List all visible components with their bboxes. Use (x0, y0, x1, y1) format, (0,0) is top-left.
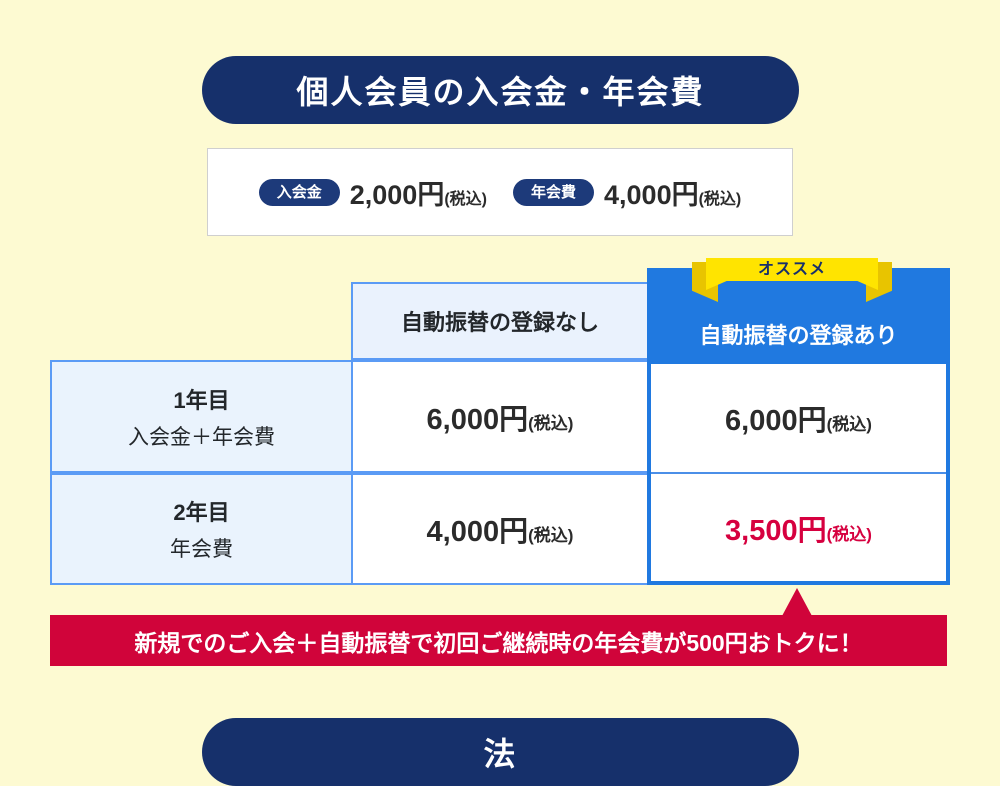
row-label-year1-sub: 入会金＋年会費 (128, 421, 275, 451)
fee-amount-annual-value: 4,000円 (604, 180, 699, 210)
fee-badge-admission: 入会金 (259, 179, 340, 206)
ribbon-label: オススメ (758, 258, 826, 282)
price-no-autopay-year2: 4,000円(税込) (427, 508, 574, 550)
fee-badge-annual: 年会費 (513, 179, 594, 206)
price-no-autopay-year1-tax: (税込) (528, 414, 573, 433)
callout-arrow-icon (782, 588, 812, 616)
recommended-ribbon: オススメ (692, 258, 892, 304)
price-no-autopay-year2-tax: (税込) (528, 526, 573, 545)
table-row-label-year2: 2年目 年会費 (50, 473, 353, 585)
price-with-autopay-year2-tax: (税込) (827, 525, 872, 544)
table-grid: 自動振替の登録なし 1年目 入会金＋年会費 2年目 年会費 6,000円(税込)… (50, 268, 950, 585)
row-label-year1-main: 1年目 (173, 383, 229, 415)
table-header-no-autopay-label: 自動振替の登録なし (401, 305, 599, 337)
table-column-with-autopay: 自動振替の登録あり 6,000円(税込) 3,500円(税込) (647, 268, 950, 585)
ribbon-band: オススメ (706, 258, 878, 290)
fee-item-admission: 入会金 2,000円(税込) (259, 173, 487, 212)
price-with-autopay-year2: 3,500円(税込) (725, 507, 872, 549)
fee-amount-admission-tax: (税込) (444, 191, 487, 208)
fee-amount-admission-value: 2,000円 (350, 180, 445, 210)
fee-amount-admission: 2,000円(税込) (350, 173, 487, 212)
table-header-corner (50, 282, 351, 358)
row-label-year2-main: 2年目 (173, 495, 229, 527)
promo-banner: 新規でのご入会＋自動振替で初回ご継続時の年会費が500円おトクに！ (50, 615, 947, 666)
table-cell-no-autopay-year2: 4,000円(税込) (351, 473, 649, 585)
table-header-with-autopay-label: 自動振替の登録あり (699, 318, 897, 350)
promo-banner-text: 新規でのご入会＋自動振替で初回ご継続時の年会費が500円おトクに！ (134, 624, 862, 658)
price-with-autopay-year1-value: 6,000円 (725, 405, 827, 437)
page-title-banner: 個人会員の入会金・年会費 (202, 56, 799, 124)
table-header-no-autopay: 自動振替の登録なし (351, 282, 649, 360)
next-section-title: 法 (483, 729, 517, 775)
fee-summary-box: 入会金 2,000円(税込) 年会費 4,000円(税込) (207, 148, 793, 236)
fee-amount-annual-tax: (税込) (699, 191, 742, 208)
price-no-autopay-year1: 6,000円(税込) (427, 396, 574, 438)
price-no-autopay-year1-value: 6,000円 (427, 404, 529, 436)
table-cell-with-autopay-year2: 3,500円(税込) (651, 474, 946, 581)
comparison-table: 自動振替の登録なし 1年目 入会金＋年会費 2年目 年会費 6,000円(税込)… (50, 268, 950, 585)
fee-amount-annual: 4,000円(税込) (604, 173, 741, 212)
price-with-autopay-year1-tax: (税込) (827, 415, 872, 434)
row-label-year2-sub: 年会費 (170, 533, 233, 563)
page-title: 個人会員の入会金・年会費 (296, 67, 704, 113)
next-section-title-banner: 法 (202, 718, 799, 786)
table-cell-no-autopay-year1: 6,000円(税込) (351, 360, 649, 473)
price-with-autopay-year1: 6,000円(税込) (725, 397, 872, 439)
fee-item-annual: 年会費 4,000円(税込) (513, 173, 741, 212)
price-no-autopay-year2-value: 4,000円 (427, 516, 529, 548)
price-with-autopay-year2-value: 3,500円 (725, 515, 827, 547)
table-cell-with-autopay-year1: 6,000円(税込) (651, 364, 946, 474)
table-row-label-year1: 1年目 入会金＋年会費 (50, 360, 353, 473)
